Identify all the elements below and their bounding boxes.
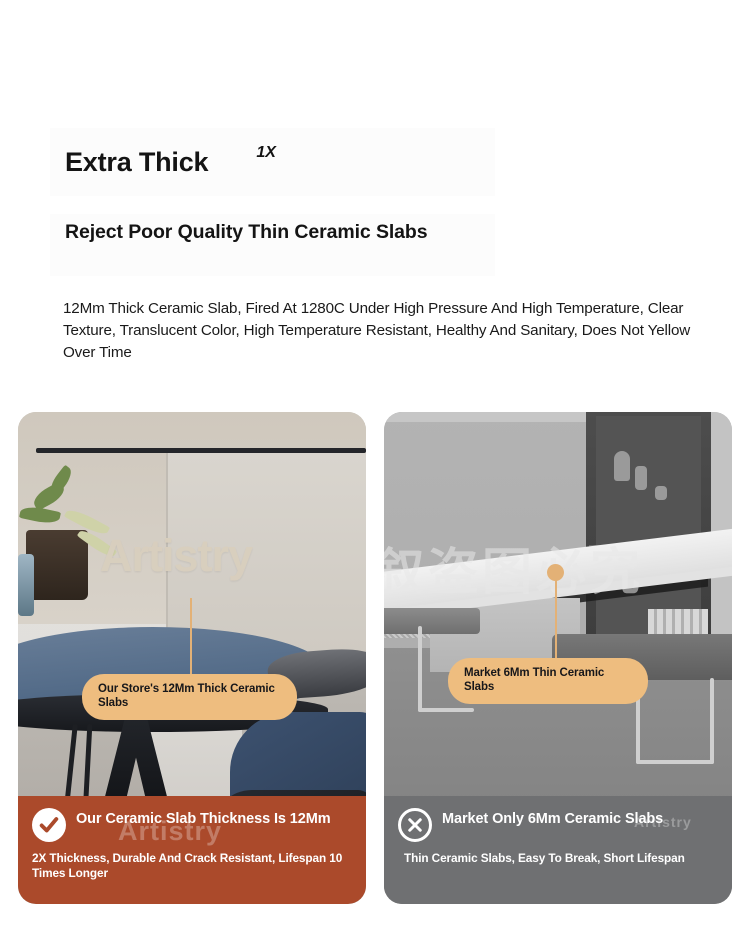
thickness-multiplier-badge: 1X — [256, 144, 276, 162]
page-title: Extra Thick — [65, 147, 208, 178]
chrome-rail — [418, 708, 474, 712]
caption-description: Thin Ceramic Slabs, Easy To Break, Short… — [404, 851, 718, 866]
check-circle-icon — [32, 808, 66, 842]
callout-leader-line — [190, 598, 192, 676]
decor-vase — [635, 466, 647, 490]
product-detail-page: Extra Thick 1X Reject Poor Quality Thin … — [0, 0, 750, 939]
wall-panel — [168, 453, 366, 653]
chrome-leg — [418, 626, 422, 712]
page-subtitle: Reject Poor Quality Thin Ceramic Slabs — [65, 220, 495, 246]
caption-description: 2X Thickness, Durable And Crack Resistan… — [32, 851, 352, 882]
hero-subtitle-row: Reject Poor Quality Thin Ceramic Slabs — [50, 214, 495, 276]
bench-back — [384, 608, 480, 634]
hero-section: Extra Thick 1X Reject Poor Quality Thin … — [0, 128, 750, 365]
caption-our-product: Artistry Our Ceramic Slab Thickness Is 1… — [18, 796, 366, 904]
cross-circle-icon — [398, 808, 432, 842]
panel-our-product[interactable]: Artistry Artistry Our Ceramic Slab Thick… — [18, 412, 366, 904]
caption-title: Our Ceramic Slab Thickness Is 12Mm — [76, 810, 331, 828]
plant-pot — [26, 530, 88, 600]
caption-market-product: Artistry Market Only 6Mm Ceramic Slabs T… — [384, 796, 732, 904]
decor-vase — [614, 451, 630, 481]
chrome-leg — [710, 678, 714, 764]
hero-description: 12Mm Thick Ceramic Slab, Fired At 1280C … — [63, 298, 695, 365]
callout-leader-line — [555, 580, 557, 664]
bottle — [18, 554, 34, 616]
badge-market-slab-thickness[interactable]: Market 6Mm Thin Ceramic Slabs — [448, 658, 648, 704]
callout-dot — [547, 564, 564, 581]
decor-glass — [655, 486, 667, 500]
hero-title-row: Extra Thick 1X — [50, 128, 495, 196]
chrome-rail — [636, 760, 714, 764]
badge-our-slab-thickness[interactable]: Our Store's 12Mm Thick Ceramic Slabs — [82, 674, 297, 720]
caption-title: Market Only 6Mm Ceramic Slabs — [442, 810, 663, 828]
